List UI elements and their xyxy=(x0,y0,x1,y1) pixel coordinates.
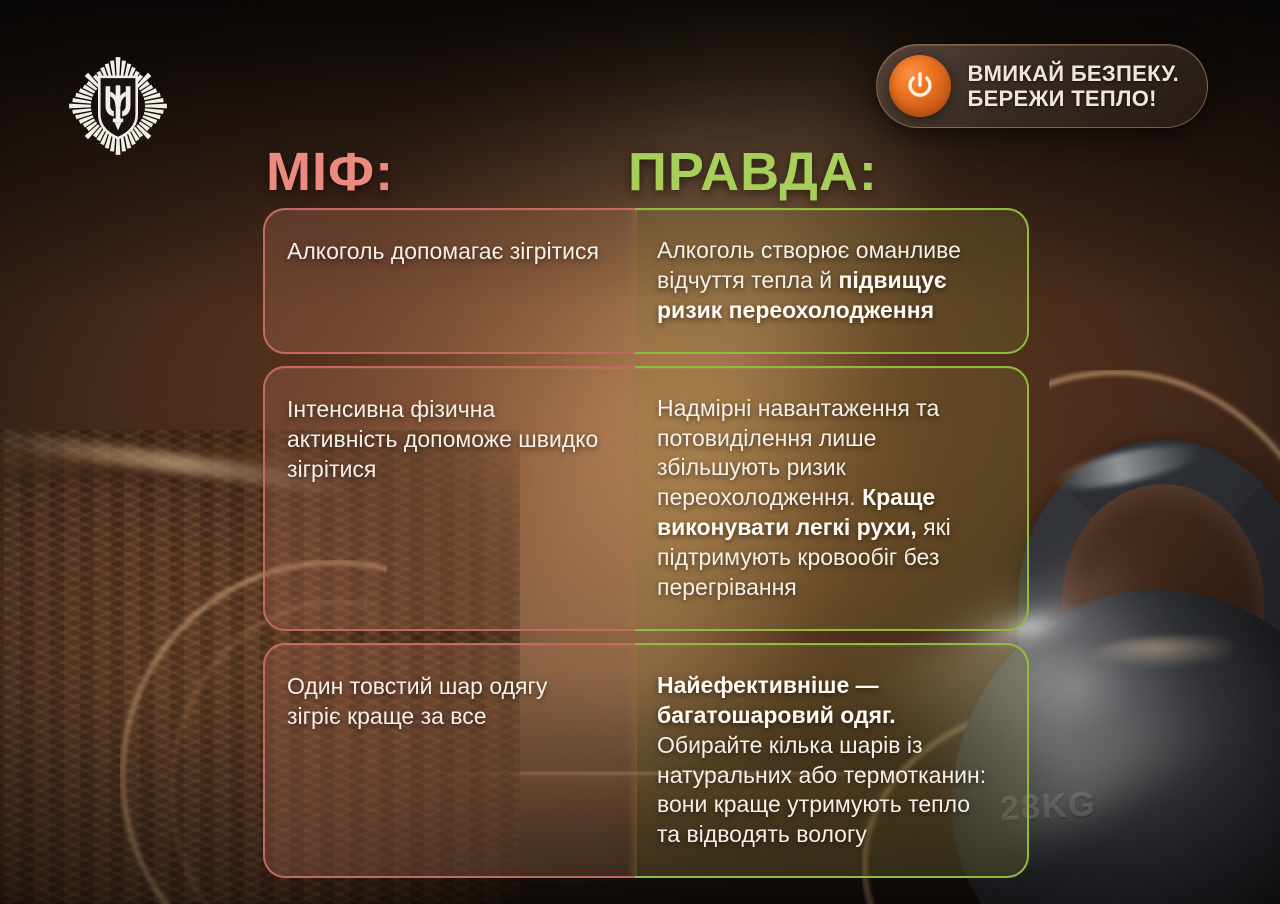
column-headers: МІФ: ПРАВДА: xyxy=(266,141,1028,203)
myth-truth-row: Один товстий шар одягу зігріє краще за в… xyxy=(263,643,1029,878)
myth-truth-row: Алкоголь допомагає зігрітися Алкоголь ст… xyxy=(263,208,1029,354)
myth-text: Один товстий шар одягу зігріє краще за в… xyxy=(287,671,607,732)
mvs-ukraine-emblem xyxy=(66,54,170,158)
myth-truth-list: Алкоголь допомагає зігрітися Алкоголь ст… xyxy=(263,208,1029,890)
myth-cell: Інтенсивна фізична активність допоможе ш… xyxy=(263,366,635,631)
truth-cell: Надмірні навантаження та потовиділення л… xyxy=(635,366,1029,631)
badge-text: ВМИКАЙ БЕЗПЕКУ. БЕРЕЖИ ТЕПЛО! xyxy=(967,61,1179,112)
header-truth: ПРАВДА: xyxy=(628,141,1028,203)
myth-cell: Алкоголь допомагає зігрітися xyxy=(263,208,635,354)
myth-text: Інтенсивна фізична активність допоможе ш… xyxy=(287,394,607,485)
campaign-badge[interactable]: ВМИКАЙ БЕЗПЕКУ. БЕРЕЖИ ТЕПЛО! xyxy=(876,44,1208,128)
truth-cell: Алкоголь створює оманливе відчуття тепла… xyxy=(635,208,1029,354)
truth-text: Найефективніше — багатошаровий одяг. Оби… xyxy=(657,671,999,850)
badge-line-2: БЕРЕЖИ ТЕПЛО! xyxy=(967,86,1179,111)
myth-truth-row: Інтенсивна фізична активність допоможе ш… xyxy=(263,366,1029,631)
truth-cell: Найефективніше — багатошаровий одяг. Оби… xyxy=(635,643,1029,878)
truth-plain-2: Обирайте кілька шарів із натуральних або… xyxy=(657,732,986,848)
truth-text: Алкоголь створює оманливе відчуття тепла… xyxy=(657,236,999,326)
myth-text: Алкоголь допомагає зігрітися xyxy=(287,236,599,266)
badge-line-1: ВМИКАЙ БЕЗПЕКУ. xyxy=(967,61,1179,86)
myth-cell: Один товстий шар одягу зігріє краще за в… xyxy=(263,643,635,878)
power-icon xyxy=(889,55,951,117)
truth-text: Надмірні навантаження та потовиділення л… xyxy=(657,394,999,603)
header-myth: МІФ: xyxy=(266,141,628,203)
truth-bold-1: Найефективніше — багатошаровий одяг. xyxy=(657,672,896,728)
poster-canvas: 28KG xyxy=(0,0,1280,904)
